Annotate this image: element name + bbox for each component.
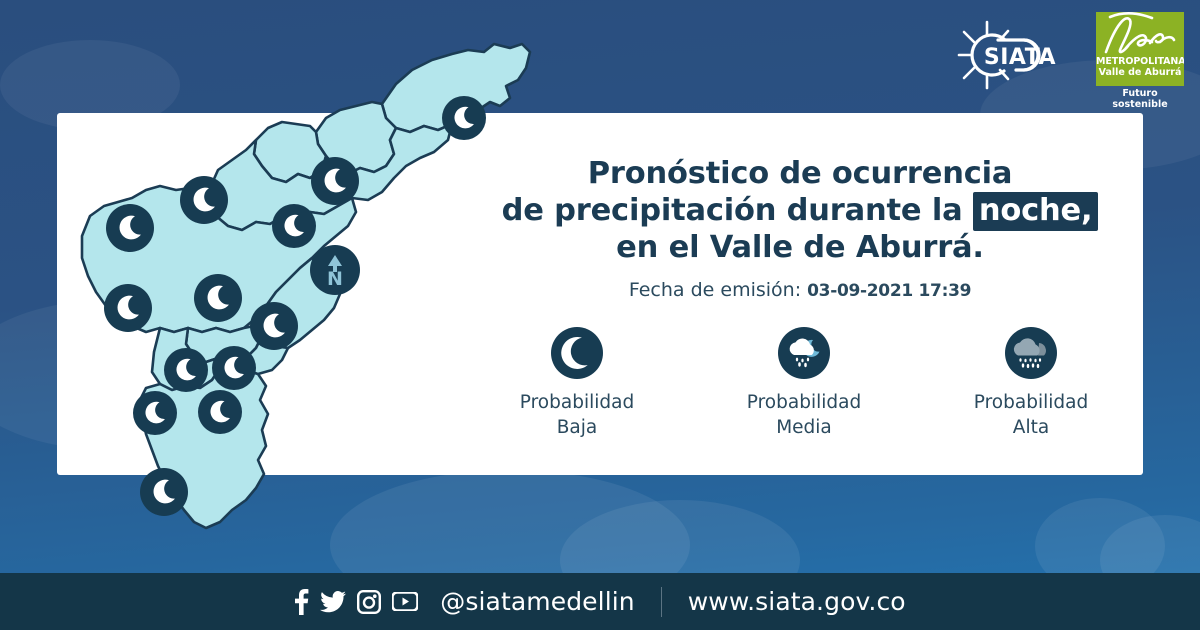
legend-label-media: Probabilidad Media bbox=[729, 390, 879, 440]
issue-date: Fecha de emisión: 03-09-2021 17:39 bbox=[470, 279, 1130, 301]
cloud-heavy-rain-icon bbox=[1005, 327, 1057, 379]
youtube-icon[interactable] bbox=[392, 592, 418, 611]
title-line-1: Pronóstico de ocurrencia bbox=[470, 155, 1130, 192]
legend-label-line2: Baja bbox=[502, 415, 652, 440]
footer-bar: @siatamedellin www.siata.gov.co bbox=[0, 573, 1200, 630]
map-marker-moon bbox=[250, 302, 298, 350]
legend-label-alta: Probabilidad Alta bbox=[956, 390, 1106, 440]
footer-divider bbox=[661, 587, 662, 617]
cloud-moon-rain-icon bbox=[778, 327, 830, 379]
social-icons bbox=[294, 589, 418, 615]
legend-label-line1: Probabilidad bbox=[956, 390, 1106, 415]
area-script-icon bbox=[1096, 12, 1184, 58]
legend-label-line1: Probabilidad bbox=[729, 390, 879, 415]
logo-line1: METROPOLITANA bbox=[1096, 56, 1184, 67]
website-url[interactable]: www.siata.gov.co bbox=[688, 587, 906, 616]
twitter-icon[interactable] bbox=[320, 591, 346, 613]
compass-label: N bbox=[327, 268, 343, 290]
map-marker-moon bbox=[198, 390, 242, 434]
map-marker-moon bbox=[272, 204, 316, 248]
compass-badge: N bbox=[310, 245, 360, 295]
legend-item-media: Probabilidad Media bbox=[729, 327, 879, 440]
logo-line2: Valle de Aburrá bbox=[1096, 67, 1184, 78]
map-marker-moon bbox=[212, 346, 256, 390]
moon-icon bbox=[551, 327, 603, 379]
map-marker-moon bbox=[311, 157, 359, 205]
issue-date-value: 03-09-2021 17:39 bbox=[807, 281, 971, 301]
legend-label-line1: Probabilidad bbox=[502, 390, 652, 415]
area-metropolitana-logo: METROPOLITANA Valle de Aburrá Futuro sos… bbox=[1096, 12, 1184, 104]
map-marker-moon bbox=[442, 96, 486, 140]
issue-date-label: Fecha de emisión: bbox=[629, 279, 801, 301]
legend-label-baja: Probabilidad Baja bbox=[502, 390, 652, 440]
legend-item-alta: Probabilidad Alta bbox=[956, 327, 1106, 440]
map-marker-moon bbox=[194, 274, 242, 322]
map-marker-moon bbox=[104, 284, 152, 332]
title-line-3: en el Valle de Aburrá. bbox=[470, 229, 1130, 266]
title-line-2-text: de precipitación durante la bbox=[502, 193, 973, 228]
siata-logo: SIATA bbox=[952, 12, 1082, 98]
valle-de-aburra-map: N bbox=[60, 40, 540, 580]
title-line-2: de precipitación durante la noche, bbox=[470, 192, 1130, 229]
page-title: Pronóstico de ocurrencia de precipitació… bbox=[470, 155, 1130, 266]
logo-green-panel: METROPOLITANA Valle de Aburrá bbox=[1096, 12, 1184, 86]
siata-wordmark: SIATA bbox=[984, 45, 1056, 70]
logo-group: SIATA METROPOLITANA Valle de Aburrá Futu… bbox=[952, 12, 1184, 104]
legend-item-baja: Probabilidad Baja bbox=[502, 327, 652, 440]
legend-label-line2: Alta bbox=[956, 415, 1106, 440]
facebook-icon[interactable] bbox=[294, 589, 309, 615]
instagram-icon[interactable] bbox=[357, 590, 381, 614]
forecast-panel: Pronóstico de ocurrencia de precipitació… bbox=[470, 155, 1130, 440]
map-marker-moon bbox=[106, 204, 154, 252]
legend-label-line2: Media bbox=[729, 415, 879, 440]
title-highlight-noche: noche, bbox=[973, 192, 1099, 231]
infographic-canvas: SIATA METROPOLITANA Valle de Aburrá Futu… bbox=[0, 0, 1200, 630]
map-marker-moon bbox=[133, 391, 177, 435]
map-marker-moon bbox=[140, 468, 188, 516]
map-marker-moon bbox=[180, 176, 228, 224]
social-handle[interactable]: @siatamedellin bbox=[440, 587, 634, 616]
map-marker-moon bbox=[164, 348, 208, 392]
probability-legend: Probabilidad Baja bbox=[470, 327, 1130, 440]
logo-tagline: Futuro sostenible bbox=[1096, 88, 1184, 110]
